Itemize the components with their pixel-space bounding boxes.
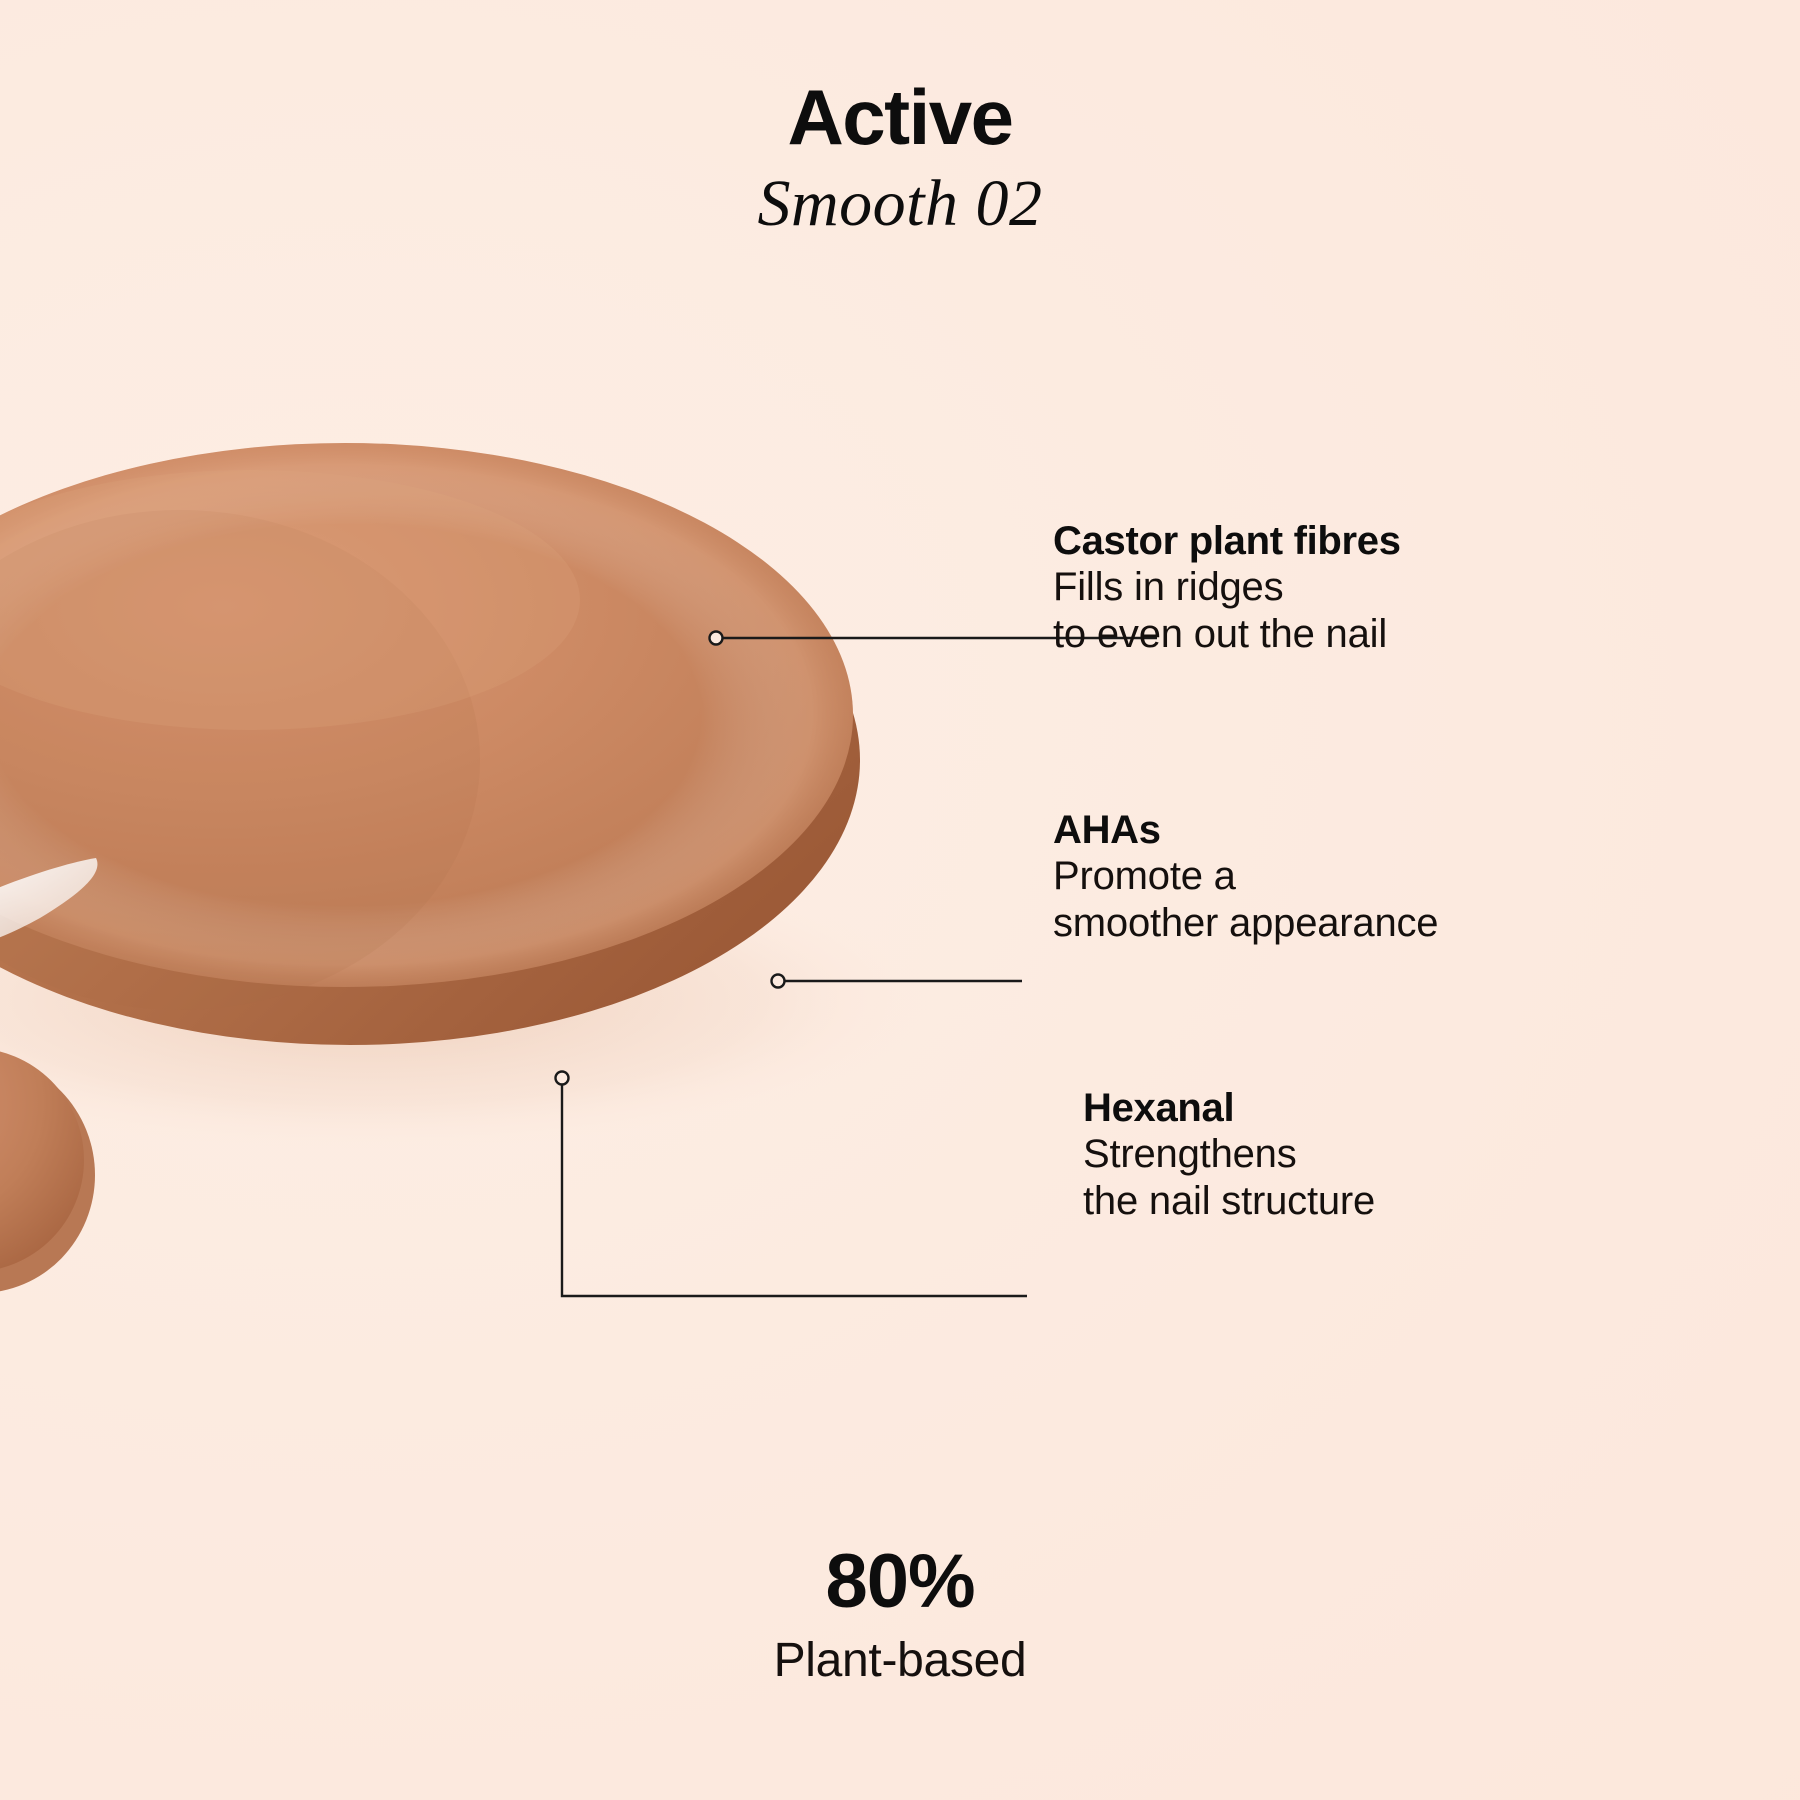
callout-description-line: Fills in ridges	[1053, 564, 1401, 611]
callout-title: AHAs	[1053, 808, 1438, 853]
callout-title: Castor plant fibres	[1053, 519, 1401, 564]
callout-description-line: the nail structure	[1083, 1178, 1375, 1225]
anchor-dot-ahas	[772, 975, 785, 988]
background-wash	[0, 0, 1800, 1800]
nail-polish-droplet-illustration	[0, 0, 1800, 1800]
callout-description-line: to even out the nail	[1053, 611, 1401, 658]
page-subtitle: Smooth 02	[0, 166, 1800, 242]
anchor-dot-castor	[710, 632, 723, 645]
anchor-dot-hexanal	[556, 1072, 569, 1085]
callout-hexanal: Hexanal Strengthens the nail structure	[1083, 1086, 1375, 1224]
page-title-group: Active Smooth 02	[0, 78, 1800, 242]
plant-based-percentage: 80%	[0, 1544, 1800, 1620]
callout-description-line: Promote a	[1053, 853, 1438, 900]
leader-line-hexanal	[562, 1085, 1027, 1296]
callout-description-line: smoother appearance	[1053, 900, 1438, 947]
leader-lines	[0, 0, 1800, 1800]
callout-castor-plant-fibres: Castor plant fibres Fills in ridges to e…	[1053, 519, 1401, 657]
plant-based-claim: 80% Plant-based	[0, 1544, 1800, 1690]
plant-based-label: Plant-based	[0, 1632, 1800, 1690]
callout-ahas: AHAs Promote a smoother appearance	[1053, 808, 1438, 946]
page-title: Active	[0, 78, 1800, 156]
callout-description-line: Strengthens	[1083, 1131, 1375, 1178]
callout-title: Hexanal	[1083, 1086, 1375, 1131]
product-infographic: Active Smooth 02 Castor plant fibres Fil…	[0, 0, 1800, 1800]
